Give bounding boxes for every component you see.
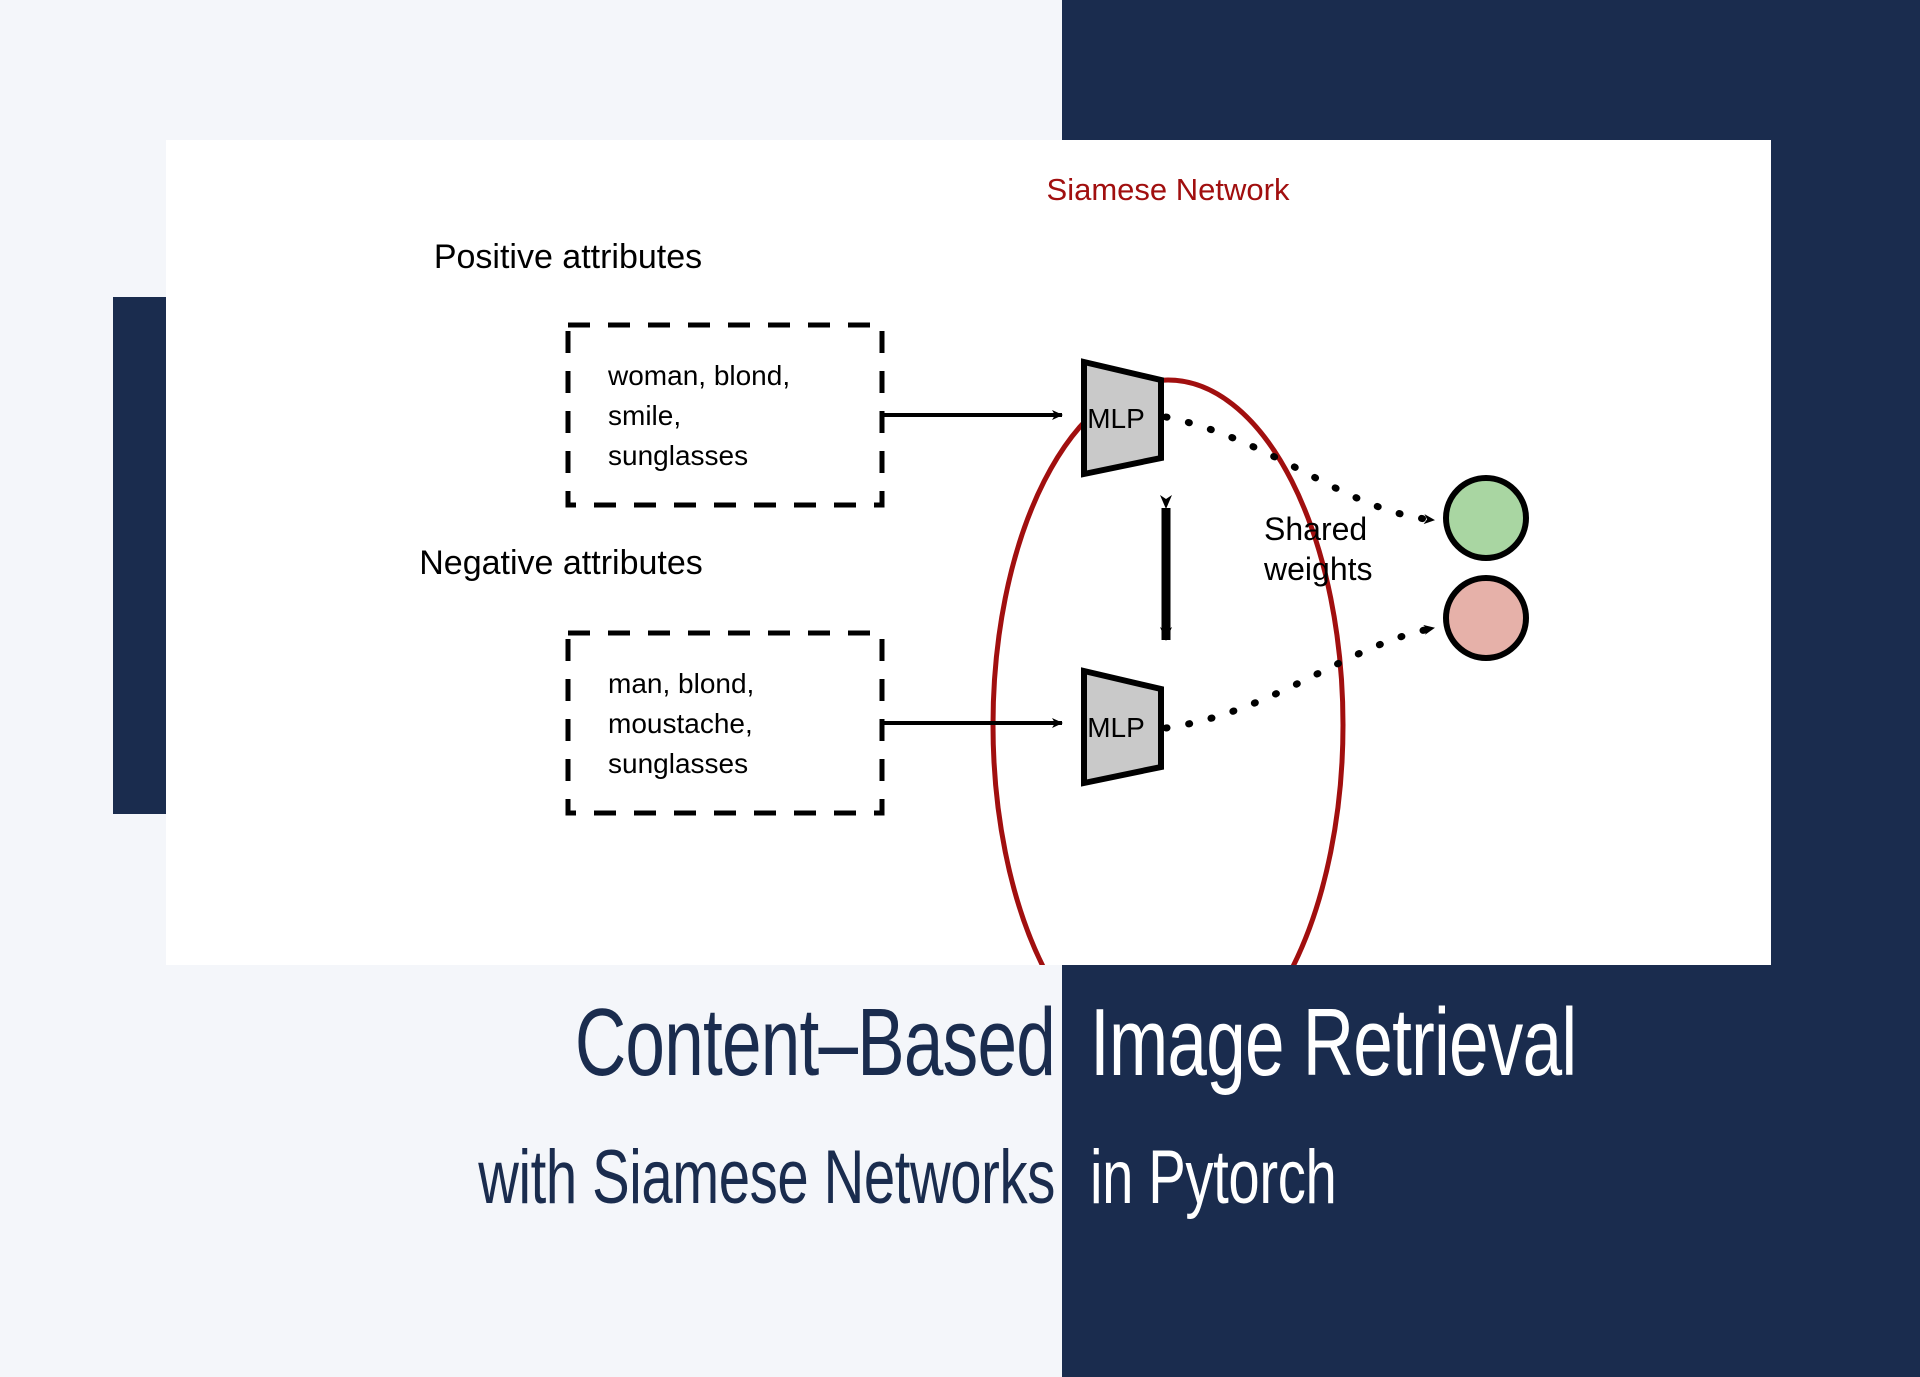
positive-attributes-heading: Positive attributes (434, 238, 702, 276)
negative-output-connector (1166, 628, 1434, 728)
siamese-network-diagram: Siamese Network Positive attributes woma… (166, 140, 1771, 965)
slide-root: Siamese Network Positive attributes woma… (0, 0, 1920, 1377)
diagram-card: Siamese Network Positive attributes woma… (166, 140, 1771, 965)
siamese-network-label: Siamese Network (1047, 172, 1290, 207)
mlp-top-label: MLP (1087, 403, 1145, 434)
negative-attributes-line-3: sunglasses (608, 748, 748, 779)
negative-attributes-line-1: man, blond, (608, 668, 754, 699)
mlp-bottom-label: MLP (1087, 712, 1145, 743)
positive-attributes-line-2: smile, (608, 400, 681, 431)
negative-attributes-heading: Negative attributes (419, 544, 703, 582)
negative-attributes-line-2: moustache, (608, 708, 753, 739)
title-line2-right: in Pytorch (1090, 1140, 1697, 1216)
title-line2-left: with Siamese Networks (274, 1140, 1055, 1216)
shared-weights-label-line-1: Shared (1264, 511, 1367, 547)
positive-attributes-line-3: sunglasses (608, 440, 748, 471)
shared-weights-label-line-2: weights (1263, 551, 1373, 587)
negative-embedding-node (1446, 578, 1526, 658)
positive-embedding-node (1446, 478, 1526, 558)
title-line1-left: Content–Based (274, 995, 1055, 1091)
title-line1-right: Image Retrieval (1090, 995, 1697, 1091)
positive-attributes-line-1: woman, blond, (607, 360, 790, 391)
siamese-network-boundary (993, 380, 1343, 965)
